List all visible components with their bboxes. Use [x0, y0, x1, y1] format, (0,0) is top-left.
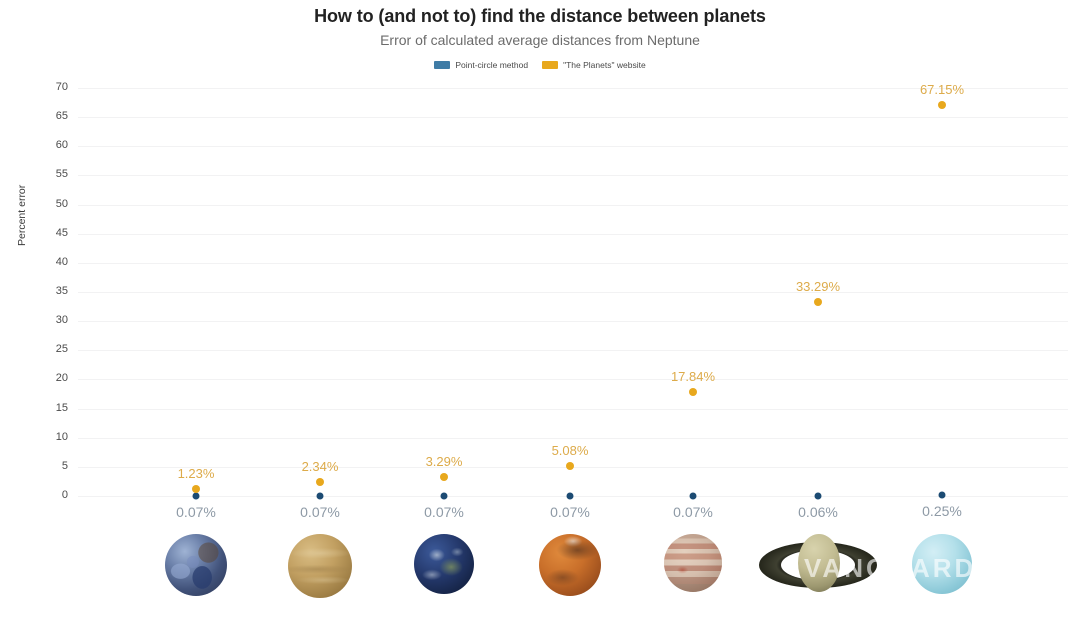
y-tick-label: 15: [42, 402, 68, 414]
legend-item-the-planets-website[interactable]: "The Planets" website: [542, 60, 646, 70]
chart-subtitle: Error of calculated average distances fr…: [0, 32, 1080, 48]
gridline: [78, 409, 1068, 410]
data-point-label: 67.15%: [920, 82, 964, 97]
mercury-planet-icon: [165, 534, 227, 596]
legend-label-the-planets-website: "The Planets" website: [563, 60, 646, 70]
data-point[interactable]: [690, 492, 697, 499]
data-point-label: 3.29%: [426, 454, 463, 469]
jupiter-planet-icon: [664, 534, 722, 592]
gridline: [78, 379, 1068, 380]
data-point[interactable]: [441, 492, 448, 499]
y-tick-label: 60: [42, 139, 68, 151]
gridline: [78, 438, 1068, 439]
data-point[interactable]: [815, 492, 822, 499]
data-point-label: 17.84%: [671, 369, 715, 384]
y-tick-label: 30: [42, 314, 68, 326]
gridline: [78, 146, 1068, 147]
gridline: [78, 321, 1068, 322]
venus-planet-icon: [288, 534, 352, 598]
data-point[interactable]: [939, 491, 946, 498]
y-tick-label: 0: [42, 489, 68, 501]
legend-swatch-point-circle-method: [434, 61, 450, 69]
data-point[interactable]: [567, 492, 574, 499]
mars-planet-icon: [539, 534, 601, 596]
data-point[interactable]: [316, 478, 324, 486]
y-tick-label: 65: [42, 110, 68, 122]
y-tick-label: 40: [42, 256, 68, 268]
gridline: [78, 205, 1068, 206]
data-point[interactable]: [193, 492, 200, 499]
gridline: [78, 350, 1068, 351]
data-point-label: 33.29%: [796, 279, 840, 294]
data-point[interactable]: [192, 485, 200, 493]
data-point-label: 0.07%: [176, 504, 216, 520]
data-point[interactable]: [566, 462, 574, 470]
gridline: [78, 234, 1068, 235]
chart-container: How to (and not to) find the distance be…: [0, 0, 1080, 619]
data-point[interactable]: [814, 298, 822, 306]
data-point-label: 5.08%: [552, 443, 589, 458]
y-tick-label: 70: [42, 81, 68, 93]
data-point-label: 0.25%: [922, 503, 962, 519]
data-point-label: 2.34%: [302, 459, 339, 474]
y-tick-label: 55: [42, 168, 68, 180]
data-point-label: 0.07%: [300, 504, 340, 520]
data-point-label: 0.07%: [424, 504, 464, 520]
y-tick-label: 45: [42, 227, 68, 239]
y-tick-label: 50: [42, 198, 68, 210]
uranus-planet-icon: [912, 534, 972, 594]
earth-planet-icon: [414, 534, 474, 594]
y-tick-label: 10: [42, 431, 68, 443]
data-point[interactable]: [317, 492, 324, 499]
gridline: [78, 263, 1068, 264]
data-point[interactable]: [689, 388, 697, 396]
data-point-label: 0.06%: [798, 504, 838, 520]
saturn-planet-icon: [759, 532, 877, 598]
gridline: [78, 117, 1068, 118]
gridline: [78, 292, 1068, 293]
legend-label-point-circle-method: Point-circle method: [455, 60, 528, 70]
plot-area: [78, 88, 1068, 496]
data-point[interactable]: [440, 473, 448, 481]
chart-title: How to (and not to) find the distance be…: [0, 6, 1080, 27]
gridline: [78, 175, 1068, 176]
data-point-label: 0.07%: [673, 504, 713, 520]
planet-axis-icons: [0, 528, 1080, 619]
y-tick-label: 35: [42, 285, 68, 297]
y-tick-label: 20: [42, 372, 68, 384]
data-point[interactable]: [938, 101, 946, 109]
chart-legend: Point-circle method"The Planets" website: [0, 60, 1080, 70]
legend-item-point-circle-method[interactable]: Point-circle method: [434, 60, 528, 70]
data-point-label: 1.23%: [178, 466, 215, 481]
data-point-label: 0.07%: [550, 504, 590, 520]
legend-swatch-the-planets-website: [542, 61, 558, 69]
y-tick-label: 25: [42, 343, 68, 355]
y-tick-label: 5: [42, 460, 68, 472]
y-axis-title: Percent error: [16, 185, 28, 246]
